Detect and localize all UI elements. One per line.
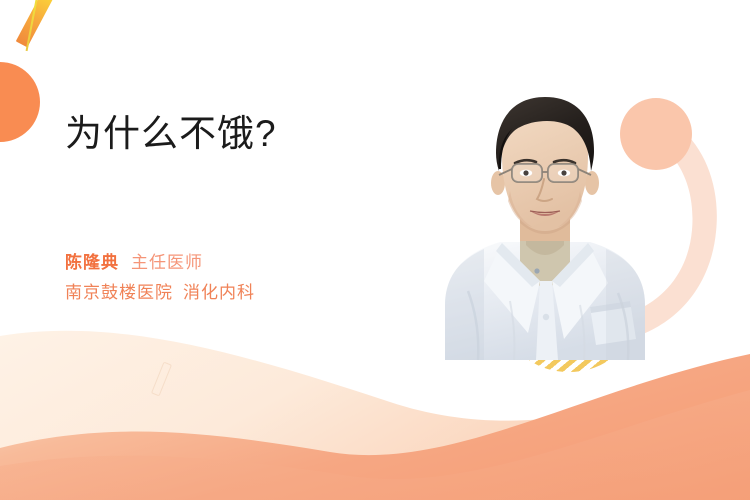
doctor-title: 主任医师 [131, 253, 203, 272]
outlined-diagonal-tick [151, 362, 172, 397]
doctor-portrait [440, 95, 650, 360]
diagonal-gradient-stripe [16, 0, 58, 47]
diagonal-thin-yellow-line [26, 0, 39, 51]
hospital-name: 南京鼓楼医院 [65, 283, 173, 302]
byline-block: 陈隆典主任医师 南京鼓楼医院消化内科 [65, 248, 465, 308]
video-cover-card: 为什么不饿? 陈隆典主任医师 南京鼓楼医院消化内科 [0, 0, 750, 500]
white-lab-coat [442, 239, 648, 360]
doctor-name: 陈隆典 [65, 253, 119, 272]
department-name: 消化内科 [183, 283, 255, 302]
coat-button [543, 314, 549, 320]
orange-circle [0, 62, 40, 142]
title-block: 为什么不饿? [65, 110, 425, 158]
doctor-head [491, 97, 599, 231]
ear-right [585, 171, 599, 195]
byline-row-doctor: 陈隆典主任医师 [65, 248, 465, 278]
page-title: 为什么不饿? [65, 110, 425, 158]
byline-row-affiliation: 南京鼓楼医院消化内科 [65, 278, 465, 308]
ear-left [491, 171, 505, 195]
collar-stud [534, 268, 539, 273]
